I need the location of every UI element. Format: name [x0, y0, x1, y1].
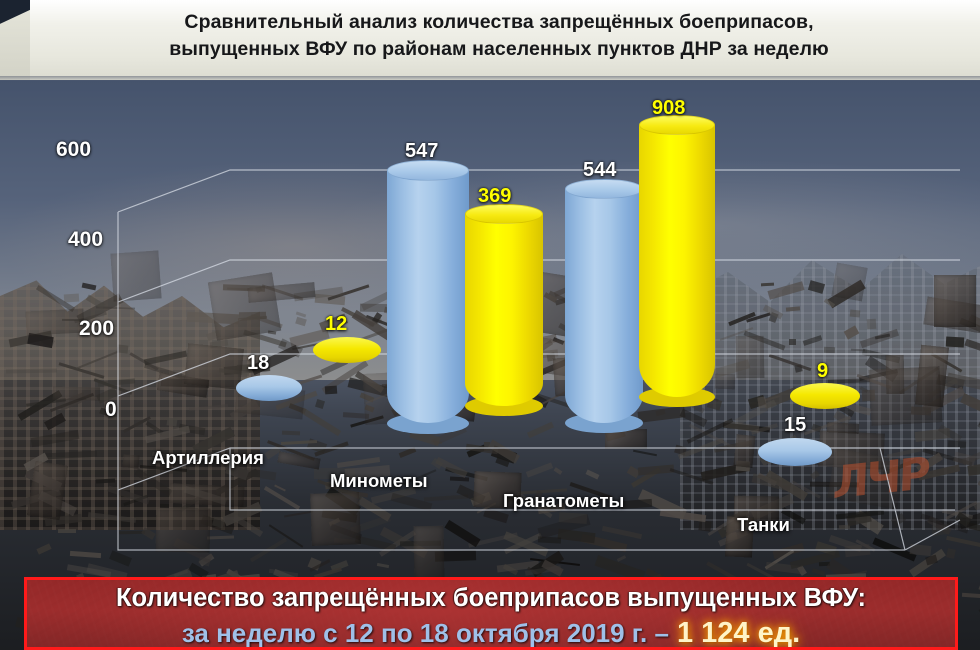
y-axis-tick-400: 400 — [68, 228, 103, 252]
value-label-tank-yellow: 9 — [817, 360, 828, 383]
summary-period: за неделю с 12 по 18 октября 2019 г. – — [182, 618, 669, 648]
category-label-2: Гранатометы — [503, 490, 624, 512]
disc-body — [758, 438, 832, 466]
bar-grenade-yellow — [639, 125, 715, 397]
disc-body — [790, 383, 860, 409]
bar-tank-blue — [758, 438, 832, 466]
value-label-artillery-blue: 18 — [247, 352, 269, 375]
summary-line1: Количество запрещённых боеприпасов выпущ… — [27, 584, 955, 613]
bar-grenade-blue — [565, 189, 643, 423]
page-title: Сравнительный анализ количества запрещён… — [40, 9, 958, 63]
bar-artillery-blue — [236, 375, 302, 401]
cylinder-side — [465, 214, 543, 406]
category-label-3: Танки — [737, 514, 790, 536]
bar-tank-yellow — [790, 383, 860, 409]
page-title-line1: Сравнительный анализ количества запрещён… — [184, 11, 813, 33]
cylinder-top — [565, 179, 643, 199]
category-label-1: Минометы — [330, 470, 428, 492]
slide: ЛЧР 600400200 — [0, 0, 980, 650]
value-label-tank-blue: 15 — [784, 414, 806, 437]
summary-line2: за неделю с 12 по 18 октября 2019 г. –1 … — [27, 617, 955, 650]
cylinder-side — [565, 189, 643, 423]
value-label-grenade-yellow: 908 — [652, 97, 685, 120]
value-label-artillery-yellow: 12 — [325, 313, 347, 336]
banner-fold-left — [0, 8, 34, 80]
disc-body — [313, 337, 381, 363]
bar-artillery-yellow — [313, 337, 381, 363]
disc-body — [236, 375, 302, 401]
y-axis-tick-600: 600 — [56, 138, 91, 162]
banner-shadow — [0, 76, 980, 81]
cylinder-side — [639, 125, 715, 397]
value-label-grenade-blue: 544 — [583, 159, 616, 182]
summary-banner: Количество запрещённых боеприпасов выпущ… — [24, 577, 958, 650]
bar-mortar-blue — [387, 170, 469, 423]
category-label-0: Артиллерия — [152, 447, 264, 469]
summary-total: 1 124 ед. — [677, 617, 800, 649]
value-label-mortar-yellow: 369 — [478, 185, 511, 208]
title-banner: Сравнительный анализ количества запрещён… — [0, 0, 980, 82]
y-axis-tick-0: 0 — [105, 398, 117, 422]
bar-mortar-yellow — [465, 214, 543, 406]
cylinder-side — [387, 170, 469, 423]
y-axis-tick-200: 200 — [79, 317, 114, 341]
value-label-mortar-blue: 547 — [405, 140, 438, 163]
page-title-line2: выпущенных ВФУ по районам населенных пун… — [40, 36, 958, 63]
